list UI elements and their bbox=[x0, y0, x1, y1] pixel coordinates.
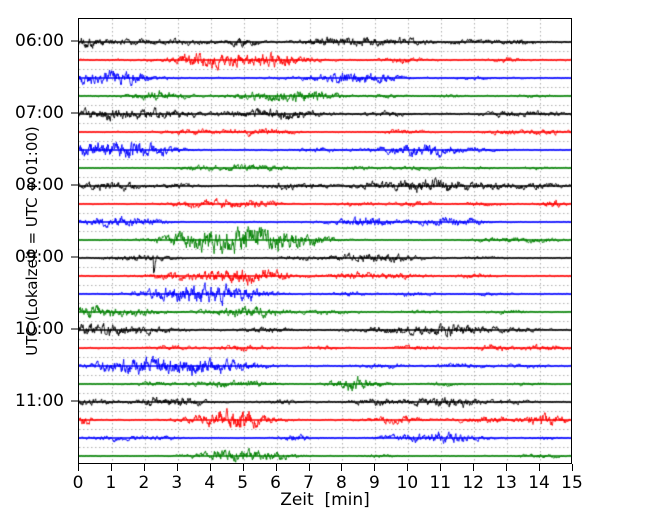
x-tick-mark bbox=[539, 464, 540, 471]
seismogram-figure: UTC (Lokalzeit = UTC + 01:00) 06:0007:00… bbox=[0, 0, 650, 520]
x-axis-label: Zeit [min] bbox=[78, 490, 572, 510]
x-tick-mark bbox=[407, 464, 408, 471]
y-tick-label: 11:00 bbox=[15, 391, 64, 411]
plot-area bbox=[78, 18, 572, 464]
y-tick-mark bbox=[71, 401, 78, 402]
y-tick-label: 10:00 bbox=[15, 319, 64, 339]
x-tick-mark bbox=[374, 464, 375, 471]
x-tick-mark bbox=[276, 464, 277, 471]
y-tick-label: 06:00 bbox=[15, 31, 64, 51]
x-tick-mark bbox=[210, 464, 211, 471]
x-tick-mark bbox=[177, 464, 178, 471]
y-tick-mark bbox=[71, 185, 78, 186]
seismogram-traces-canvas bbox=[79, 19, 572, 464]
x-tick-mark bbox=[111, 464, 112, 471]
x-tick-mark bbox=[341, 464, 342, 471]
y-tick-mark bbox=[71, 257, 78, 258]
y-axis-ticks: 06:0007:0008:0009:0010:0011:00 bbox=[0, 0, 78, 520]
x-tick-mark bbox=[243, 464, 244, 471]
x-tick-mark bbox=[506, 464, 507, 471]
y-tick-label: 07:00 bbox=[15, 103, 64, 123]
x-tick-mark bbox=[572, 464, 573, 471]
x-tick-mark bbox=[78, 464, 79, 471]
x-tick-mark bbox=[144, 464, 145, 471]
x-tick-mark bbox=[309, 464, 310, 471]
x-tick-mark bbox=[440, 464, 441, 471]
x-tick-mark bbox=[473, 464, 474, 471]
y-tick-label: 08:00 bbox=[15, 175, 64, 195]
y-tick-label: 09:00 bbox=[15, 247, 64, 267]
y-tick-mark bbox=[71, 329, 78, 330]
y-tick-mark bbox=[71, 41, 78, 42]
y-tick-mark bbox=[71, 113, 78, 114]
